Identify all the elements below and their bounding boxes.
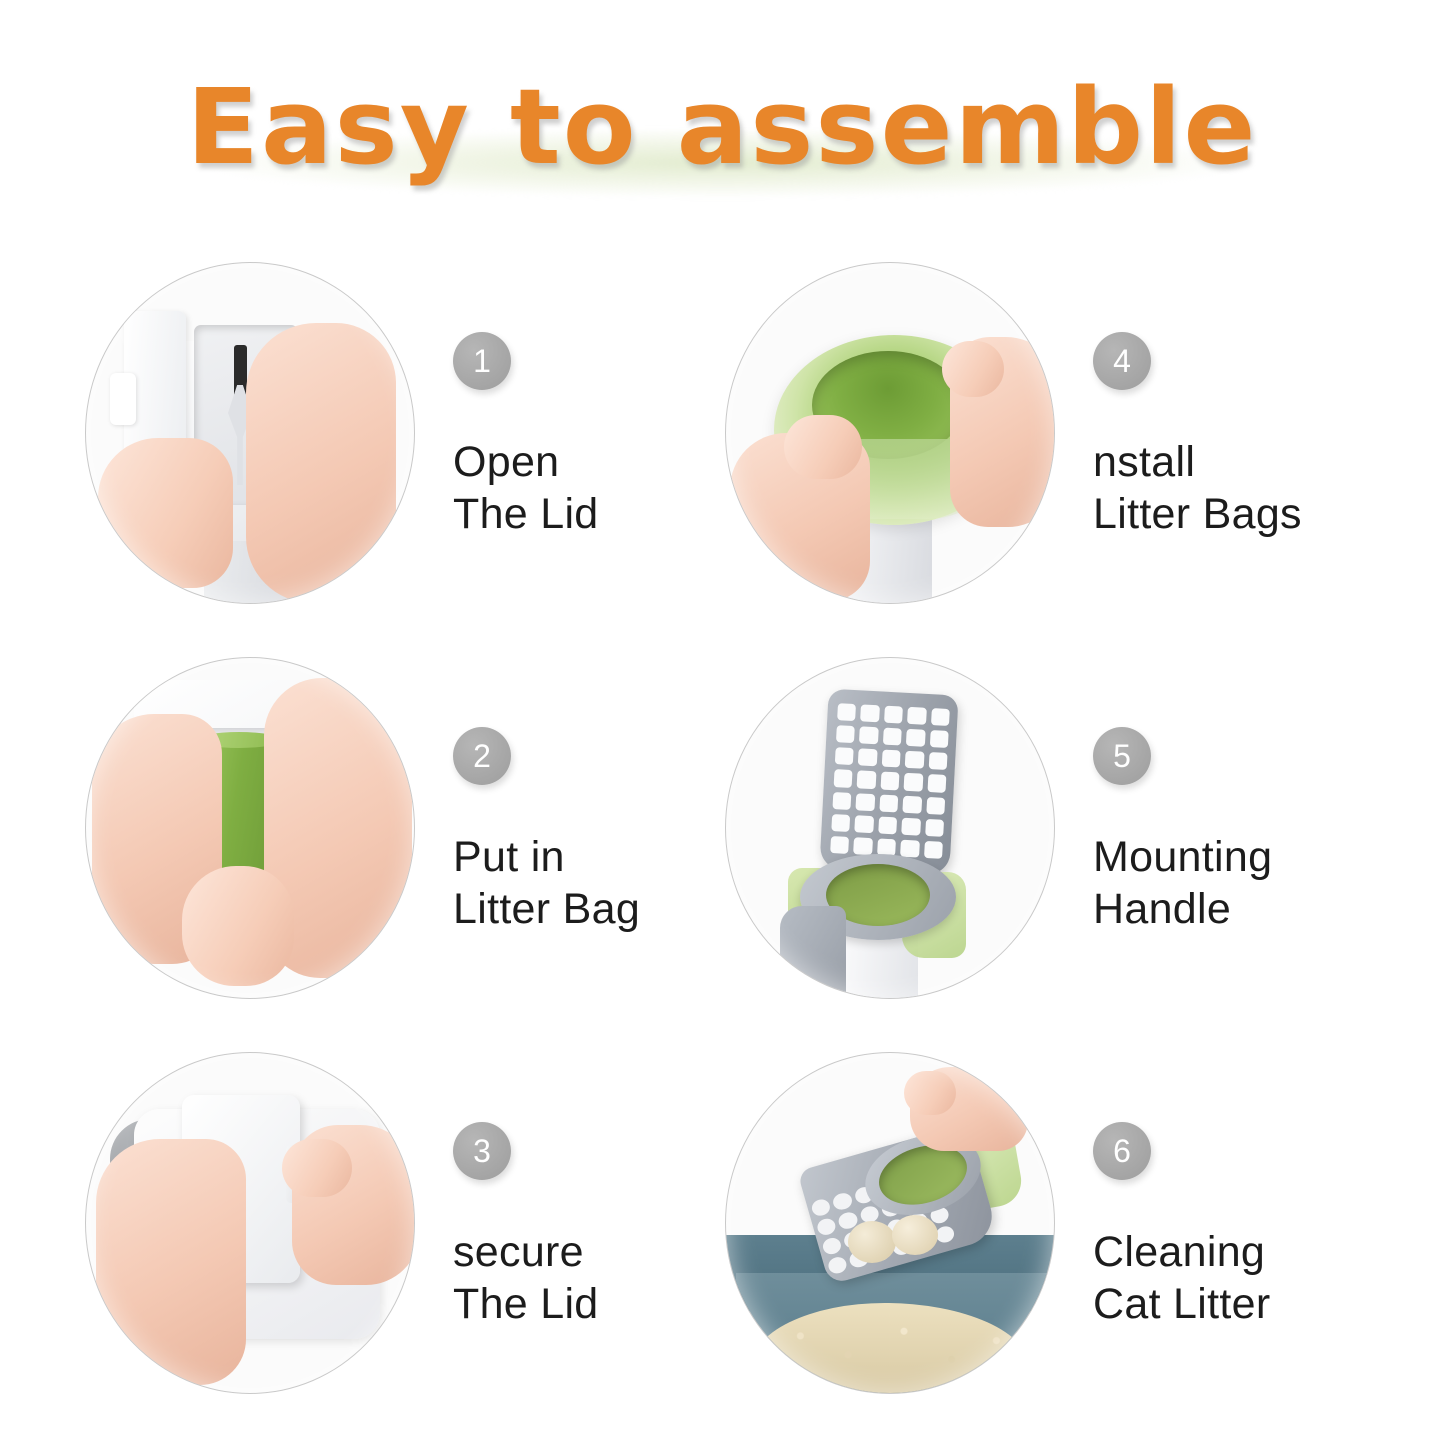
step-2-line-2: Litter Bag <box>453 883 640 935</box>
step-6-line-1: Cleaning <box>1093 1228 1265 1276</box>
litter-clump-two-shape <box>892 1215 938 1255</box>
step-3-caption: 3 secure The Lid <box>453 1116 599 1331</box>
step-3-photo <box>85 1052 415 1394</box>
right-fingers-shape <box>942 341 1004 397</box>
step-card-3: 3 secure The Lid <box>85 1038 725 1408</box>
infographic-page: Easy to assemble 1 Open The Lid <box>0 0 1445 1445</box>
step-6-label: Cleaning Cat Litter <box>1093 1226 1270 1331</box>
step-number-badge: 2 <box>453 727 511 785</box>
step-number-badge: 6 <box>1093 1122 1151 1180</box>
thumb-shape <box>98 438 233 588</box>
step-card-6: 6 Cleaning Cat Litter <box>725 1038 1365 1408</box>
step-3-line-2: The Lid <box>453 1278 599 1330</box>
step-2-photo <box>85 657 415 999</box>
fingers-shape <box>904 1071 956 1115</box>
step-1-caption: 1 Open The Lid <box>453 326 599 541</box>
step-number-badge: 4 <box>1093 332 1151 390</box>
step-5-label: Mounting Handle <box>1093 831 1272 936</box>
step-card-1: 1 Open The Lid <box>85 248 725 618</box>
step-5-line-2: Handle <box>1093 883 1272 935</box>
step-5-line-1: Mounting <box>1093 833 1272 881</box>
left-hand-shape <box>96 1139 246 1385</box>
step-number-badge: 1 <box>453 332 511 390</box>
step-2-label: Put in Litter Bag <box>453 831 640 936</box>
step-1-line-1: Open <box>453 438 559 486</box>
step-5-caption: 5 Mounting Handle <box>1093 721 1272 936</box>
step-4-photo <box>725 262 1055 604</box>
step-1-label: Open The Lid <box>453 436 599 541</box>
litter-clump-one-shape <box>848 1221 896 1263</box>
step-card-4: 4 nstall Litter Bags <box>725 248 1365 618</box>
step-card-5: 5 Mounting Handle <box>725 643 1365 1013</box>
handle-grip-shape <box>780 906 846 999</box>
right-fingers-shape <box>282 1139 352 1197</box>
fingers-shape <box>182 866 294 986</box>
left-fingers-shape <box>784 415 862 479</box>
title-block: Easy to assemble <box>0 52 1445 202</box>
step-4-line-1: nstall <box>1093 438 1195 486</box>
step-1-photo <box>85 262 415 604</box>
step-number-badge: 5 <box>1093 727 1151 785</box>
step-2-caption: 2 Put in Litter Bag <box>453 721 640 936</box>
step-card-2: 2 Put in Litter Bag <box>85 643 725 1013</box>
step-6-line-2: Cat Litter <box>1093 1278 1270 1330</box>
step-3-line-1: secure <box>453 1228 584 1276</box>
scoop-perforations <box>830 703 950 859</box>
lid-tab-shape <box>110 373 136 425</box>
palm-shape <box>246 323 396 603</box>
step-2-line-1: Put in <box>453 833 565 881</box>
steps-grid: 1 Open The Lid 4 ns <box>0 248 1445 1428</box>
step-4-line-2: Litter Bags <box>1093 488 1302 540</box>
step-4-caption: 4 nstall Litter Bags <box>1093 326 1302 541</box>
step-6-photo <box>725 1052 1055 1394</box>
step-number-badge: 3 <box>453 1122 511 1180</box>
step-1-line-2: The Lid <box>453 488 599 540</box>
page-title: Easy to assemble <box>187 66 1258 188</box>
step-3-label: secure The Lid <box>453 1226 599 1331</box>
step-6-caption: 6 Cleaning Cat Litter <box>1093 1116 1270 1331</box>
step-4-label: nstall Litter Bags <box>1093 436 1302 541</box>
step-5-photo <box>725 657 1055 999</box>
